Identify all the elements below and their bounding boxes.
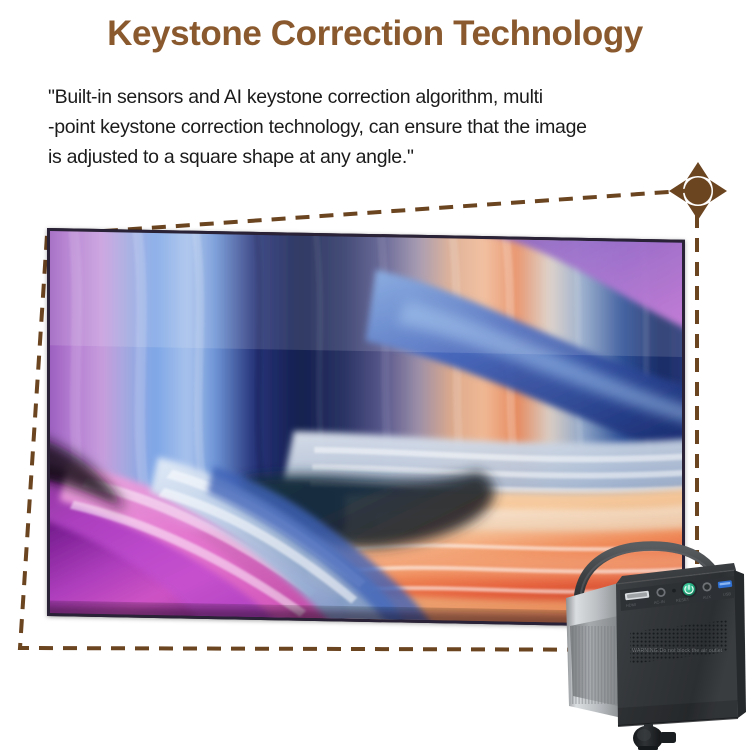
port-label-aux: AUX bbox=[703, 594, 712, 600]
arrow-left-icon[interactable] bbox=[669, 180, 686, 202]
port-label-usb: USB bbox=[723, 591, 732, 597]
projector-warning-label: WARNING:Do not block the air outlet bbox=[632, 648, 742, 654]
description-line-3: is adjusted to a square shape at any ang… bbox=[48, 142, 728, 172]
four-way-adjust-marker-icon[interactable] bbox=[666, 159, 730, 223]
aux-port[interactable] bbox=[702, 582, 711, 591]
bluetooth-indicator[interactable] bbox=[656, 588, 665, 597]
adjust-marker-hub bbox=[685, 178, 712, 205]
page-title: Keystone Correction Technology bbox=[0, 14, 750, 54]
description-line-1: "Built-in sensors and AI keystone correc… bbox=[48, 82, 728, 112]
status-led bbox=[672, 589, 676, 593]
arrow-right-icon[interactable] bbox=[710, 180, 727, 202]
power-button[interactable] bbox=[681, 581, 697, 597]
arrow-up-icon[interactable] bbox=[687, 162, 709, 179]
keystone-correction-promo-page: Keystone Correction Technology "Built-in… bbox=[0, 0, 750, 750]
arrow-down-icon[interactable] bbox=[687, 203, 709, 220]
projector-device: HDMI AC-IN RESET AUX USB bbox=[556, 540, 748, 750]
tripod-mount bbox=[633, 724, 676, 750]
description-line-2: -point keystone correction technology, c… bbox=[48, 112, 728, 142]
description-paragraph: "Built-in sensors and AI keystone correc… bbox=[48, 82, 728, 172]
projector-side-panel bbox=[566, 582, 622, 718]
projector-illustration: HDMI AC-IN RESET AUX USB bbox=[556, 540, 748, 750]
